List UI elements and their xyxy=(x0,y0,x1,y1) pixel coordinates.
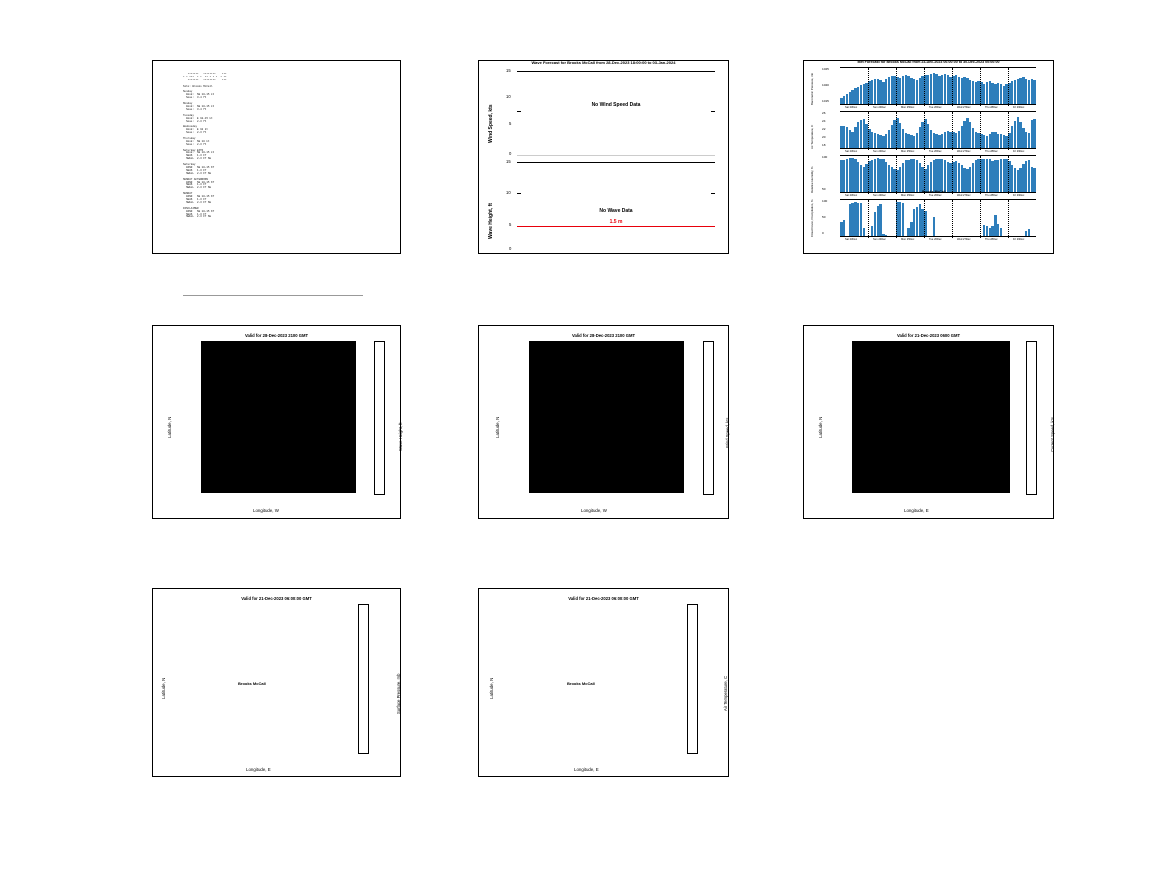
cloud-cover-precipitation-xtick: Mon 25Dec xyxy=(901,238,914,241)
cloud-cover-precipitation-xtick: Sun 24Dec xyxy=(873,238,886,241)
day-divider xyxy=(868,156,869,194)
barometric-pressure-ylabel: Barometric Pressure, mb xyxy=(810,73,814,105)
wind-map-xlabel: Longitude, W xyxy=(581,508,607,513)
relative-humidity-xtick: Sun 24Dec xyxy=(873,194,886,197)
wind-map-title: Valid for 28-Dec-2023 2100 GMT xyxy=(479,333,728,338)
day-divider xyxy=(868,200,869,238)
no-wind-speed-message: No Wind Speed Data xyxy=(592,102,641,108)
bar xyxy=(885,235,887,236)
wave-forecast-title: Wave Forecast for Brooks McCall from 28-… xyxy=(479,60,728,65)
wave-map-canvas[interactable] xyxy=(201,341,356,493)
current-map-ship-label: Brooks McCall xyxy=(928,399,956,404)
cloud-cover-precipitation-xtick: Tue 26Dec xyxy=(929,238,942,241)
wave-map-ship-label: Brooks McCall xyxy=(231,410,259,415)
barometric-pressure-xtick: Mon 25Dec xyxy=(901,106,914,109)
air-temperature-xtick: Sat 23Dec xyxy=(845,150,857,153)
panel-wave-forecast: Wave Forecast for Brooks McCall from 28-… xyxy=(478,60,729,254)
wind-speed-subplot: No Wind Speed Data xyxy=(517,71,715,156)
bar xyxy=(1033,80,1035,104)
panel-met-forecast: Met Forecast for Brooks McCall from 23-D… xyxy=(803,60,1054,254)
text-divider xyxy=(183,295,363,296)
wave-map-colorbar-label: Wave Height, ft xyxy=(398,423,403,451)
day-divider xyxy=(980,200,981,238)
wind-ytick-15: 15 xyxy=(506,68,511,73)
current-map-colorbar[interactable] xyxy=(1026,341,1037,495)
relative-humidity-xtick: Thu 28Dec xyxy=(985,194,998,197)
air-temperature-ytick: 18 xyxy=(822,143,825,147)
cloud-cover-precipitation-xtick: Thu 28Dec xyxy=(985,238,998,241)
airtemp-map-colorbar-label: Air Temperature, C xyxy=(723,676,728,711)
cloud-cover-precipitation-ytick: 0 xyxy=(822,231,824,235)
wave-ytick-0: 0 xyxy=(509,246,511,251)
current-map-canvas[interactable] xyxy=(852,341,1010,493)
air-temperature-ytick: 24 xyxy=(822,119,825,123)
air-temperature-xtick: Mon 25Dec xyxy=(901,150,914,153)
bar xyxy=(863,228,865,236)
barometric-pressure-xtick: Sun 24Dec xyxy=(873,106,886,109)
forecast-text-block: ******* ******** **** * *** * * ** * * *… xyxy=(183,74,392,219)
day-divider xyxy=(896,68,897,106)
panel-pressure-map: Valid for 21-Dec-2023 06:00:00 GMT Latit… xyxy=(152,588,401,777)
day-divider xyxy=(896,112,897,150)
barometric-pressure-xtick: Sat 23Dec xyxy=(845,106,857,109)
pressure-map-colorbar-label: Surface Pressure, mb xyxy=(396,674,401,715)
relative-humidity-xtick: Mon 25Dec xyxy=(901,194,914,197)
wind-ytick-0: 0 xyxy=(509,151,511,156)
air-temperature-xtick: Fri 29Dec xyxy=(1013,150,1024,153)
current-map-colorbar-label: Current Speed, kts xyxy=(1050,417,1055,452)
airtemp-map-canvas[interactable] xyxy=(509,604,677,752)
relative-humidity-ytick: 100 xyxy=(822,155,827,159)
relative-humidity-xtick: Sat 23Dec xyxy=(845,194,857,197)
day-divider xyxy=(1008,156,1009,194)
airtemp-map-xlabel: Longitude, E xyxy=(574,767,599,772)
day-divider xyxy=(1008,112,1009,150)
airtemp-map-ship-label: Brooks McCall xyxy=(567,681,595,686)
relative-humidity-ylabel: Relative Humidity, % xyxy=(810,167,814,193)
day-divider xyxy=(1008,200,1009,238)
bar xyxy=(1028,229,1030,236)
bar xyxy=(1000,228,1002,236)
barometric-pressure-xtick: Fri 29Dec xyxy=(1013,106,1024,109)
air-temperature-xtick: Wed 27Dec xyxy=(957,150,971,153)
wind-map-colorbar-label: Wind Speed, kts xyxy=(725,418,730,449)
day-divider xyxy=(980,156,981,194)
wave-threshold-label: 1.5 m xyxy=(610,219,623,225)
met-forecast-title: Met Forecast for Brooks McCall from 23-D… xyxy=(804,60,1053,64)
day-divider xyxy=(868,112,869,150)
cloud-cover-precipitation-ylabel: Cloud Cover, Precipitation, % xyxy=(810,199,814,237)
met-mid-annotation: Brooks McCall xyxy=(922,190,946,194)
wave-map-xlabel: Longitude, W xyxy=(253,508,279,513)
barometric-pressure-ytick: 1015 xyxy=(822,99,829,103)
air-temperature-xtick: Sun 24Dec xyxy=(873,150,886,153)
wave-threshold-line xyxy=(517,226,715,227)
wind-ytick-5: 5 xyxy=(509,121,511,126)
pressure-map-ship-label: Brooks McCall xyxy=(238,681,266,686)
wave-map-colorbar[interactable] xyxy=(374,341,385,495)
wave-ytick-10: 10 xyxy=(506,190,511,195)
panel-wind-map: Valid for 28-Dec-2023 2100 GMT Latitude,… xyxy=(478,325,729,519)
barometric-pressure-xtick: Tue 26Dec xyxy=(929,106,942,109)
day-divider xyxy=(896,156,897,194)
pressure-map-colorbar[interactable] xyxy=(358,604,369,754)
pressure-map-ylabel: Latitude, N xyxy=(161,678,166,699)
day-divider xyxy=(952,156,953,194)
wave-height-subplot: No Wave Data 1.5 m xyxy=(517,162,715,250)
pressure-map-canvas[interactable] xyxy=(180,604,348,752)
pressure-map-xlabel: Longitude, E xyxy=(246,767,271,772)
airtemp-map-title: Valid for 21-Dec-2023 06:00:00 GMT xyxy=(479,596,728,601)
wave-height-ylabel: Wave Height, ft xyxy=(488,203,494,239)
cloud-cover-precipitation-ytick: 100 xyxy=(822,199,827,203)
pressure-map-title: Valid for 21-Dec-2023 06:00:00 GMT xyxy=(153,596,400,601)
cloud-cover-precipitation-xtick: Fri 29Dec xyxy=(1013,238,1024,241)
cloud-cover-precipitation-ytick: 50 xyxy=(822,215,825,219)
bar xyxy=(1033,119,1035,148)
wind-speed-ylabel: Wind Speed, kts xyxy=(488,104,494,143)
relative-humidity xyxy=(840,155,1036,193)
day-divider xyxy=(952,200,953,238)
panel-current-map: Valid for 21-Dec-2023 0600 GMT Latitude,… xyxy=(803,325,1054,519)
barometric-pressure xyxy=(840,67,1036,105)
wind-map-ylabel: Latitude, N xyxy=(495,417,500,438)
no-wave-message: No Wave Data xyxy=(599,208,632,214)
cloud-cover-precipitation xyxy=(840,199,1036,237)
air-temperature-ytick: 20 xyxy=(822,135,825,139)
wave-ytick-15: 15 xyxy=(506,159,511,164)
air-temperature-ylabel: Air Temperature, C xyxy=(810,125,814,149)
barometric-pressure-xtick: Thu 28Dec xyxy=(985,106,998,109)
barometric-pressure-xtick: Wed 27Dec xyxy=(957,106,971,109)
day-divider xyxy=(896,200,897,238)
relative-humidity-xtick: Wed 27Dec xyxy=(957,194,971,197)
bar xyxy=(1033,168,1035,192)
panel-wave-map: Valid for 28-Dec-2023 2100 GMT Latitude,… xyxy=(152,325,401,519)
day-divider xyxy=(980,112,981,150)
cloud-cover-precipitation-xtick: Wed 27Dec xyxy=(957,238,971,241)
day-divider xyxy=(1008,68,1009,106)
air-temperature-ytick: 26 xyxy=(822,111,825,115)
wind-ytick-10: 10 xyxy=(506,94,511,99)
day-divider xyxy=(924,112,925,150)
wind-map-canvas[interactable] xyxy=(529,341,684,493)
day-divider xyxy=(924,156,925,194)
panel-forecast-text: ******* ******** **** * *** * * ** * * *… xyxy=(152,60,401,254)
wave-map-ylabel: Latitude, N xyxy=(167,417,172,438)
day-divider xyxy=(924,200,925,238)
bar xyxy=(843,220,845,236)
wave-ytick-5: 5 xyxy=(509,222,511,227)
met-subplots-container: Barometric Pressure, mb102510201015Sat 2… xyxy=(804,67,1055,247)
airtemp-map-colorbar[interactable] xyxy=(687,604,698,754)
day-divider xyxy=(980,68,981,106)
air-temperature-ytick: 22 xyxy=(822,127,825,131)
barometric-pressure-ytick: 1020 xyxy=(822,83,829,87)
day-divider xyxy=(924,68,925,106)
relative-humidity-xtick: Fri 29Dec xyxy=(1013,194,1024,197)
cloud-cover-precipitation-xtick: Sat 23Dec xyxy=(845,238,857,241)
report-line: SWELL 2-3 FT SE xyxy=(183,216,392,219)
report-page: { "page": {"title": "Marine Weather Fore… xyxy=(0,0,1167,875)
wind-map-colorbar[interactable] xyxy=(703,341,714,495)
day-divider xyxy=(868,68,869,106)
bar xyxy=(879,204,881,236)
wind-map-ship-label: Brooks McCall xyxy=(559,411,587,416)
current-map-xlabel: Longitude, E xyxy=(904,508,929,513)
bar xyxy=(933,217,935,236)
relative-humidity-ytick: 50 xyxy=(822,187,825,191)
air-temperature-xtick: Thu 28Dec xyxy=(985,150,998,153)
wave-map-title: Valid for 28-Dec-2023 2100 GMT xyxy=(153,333,400,338)
day-divider xyxy=(952,68,953,106)
air-temperature-xtick: Tue 26Dec xyxy=(929,150,942,153)
airtemp-map-ylabel: Latitude, N xyxy=(489,678,494,699)
air-temperature xyxy=(840,111,1036,149)
panel-airtemp-map: Valid for 21-Dec-2023 06:00:00 GMT Latit… xyxy=(478,588,729,777)
day-divider xyxy=(952,112,953,150)
bar xyxy=(902,203,904,236)
current-map-ylabel: Latitude, N xyxy=(818,417,823,438)
current-map-title: Valid for 21-Dec-2023 0600 GMT xyxy=(804,333,1053,338)
barometric-pressure-ytick: 1025 xyxy=(822,67,829,71)
